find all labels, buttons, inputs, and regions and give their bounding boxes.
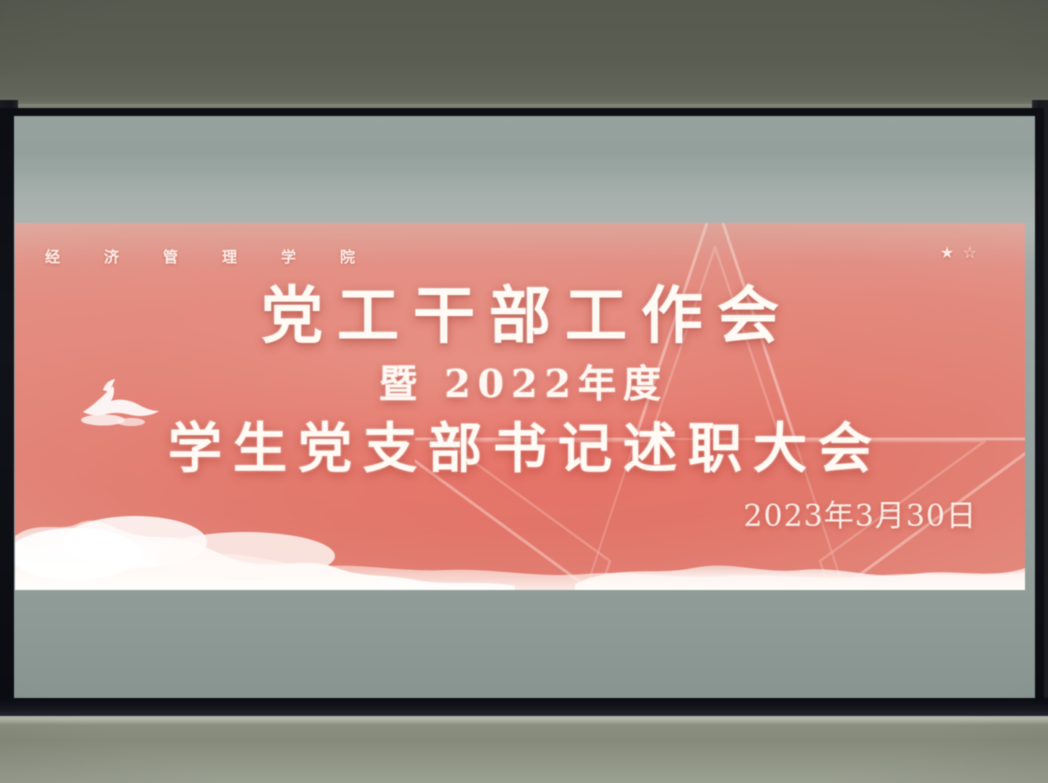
slide-date: 2023年3月30日 — [743, 491, 977, 535]
organization-label: 经济管理学院 — [45, 246, 399, 267]
screen-bottom-rail — [0, 698, 1048, 718]
projected-slide: 经济管理学院 ★ ☆ 党工干部工作会 暨 2022年度 学生党支部书记述职大会 … — [15, 223, 1025, 590]
slide-headline: 党工干部工作会 — [15, 285, 1025, 347]
screen-rail-highlight — [0, 716, 1048, 725]
projection-photo: 经济管理学院 ★ ☆ 党工干部工作会 暨 2022年度 学生党支部书记述职大会 … — [0, 0, 1048, 783]
slide-headline-secondary: 学生党支部书记述职大会 — [15, 421, 1025, 475]
star-badge-icon: ★ ☆ — [940, 243, 979, 263]
wall-above-screen — [0, 0, 1048, 118]
slide-subheadline: 暨 2022年度 — [15, 365, 1025, 403]
